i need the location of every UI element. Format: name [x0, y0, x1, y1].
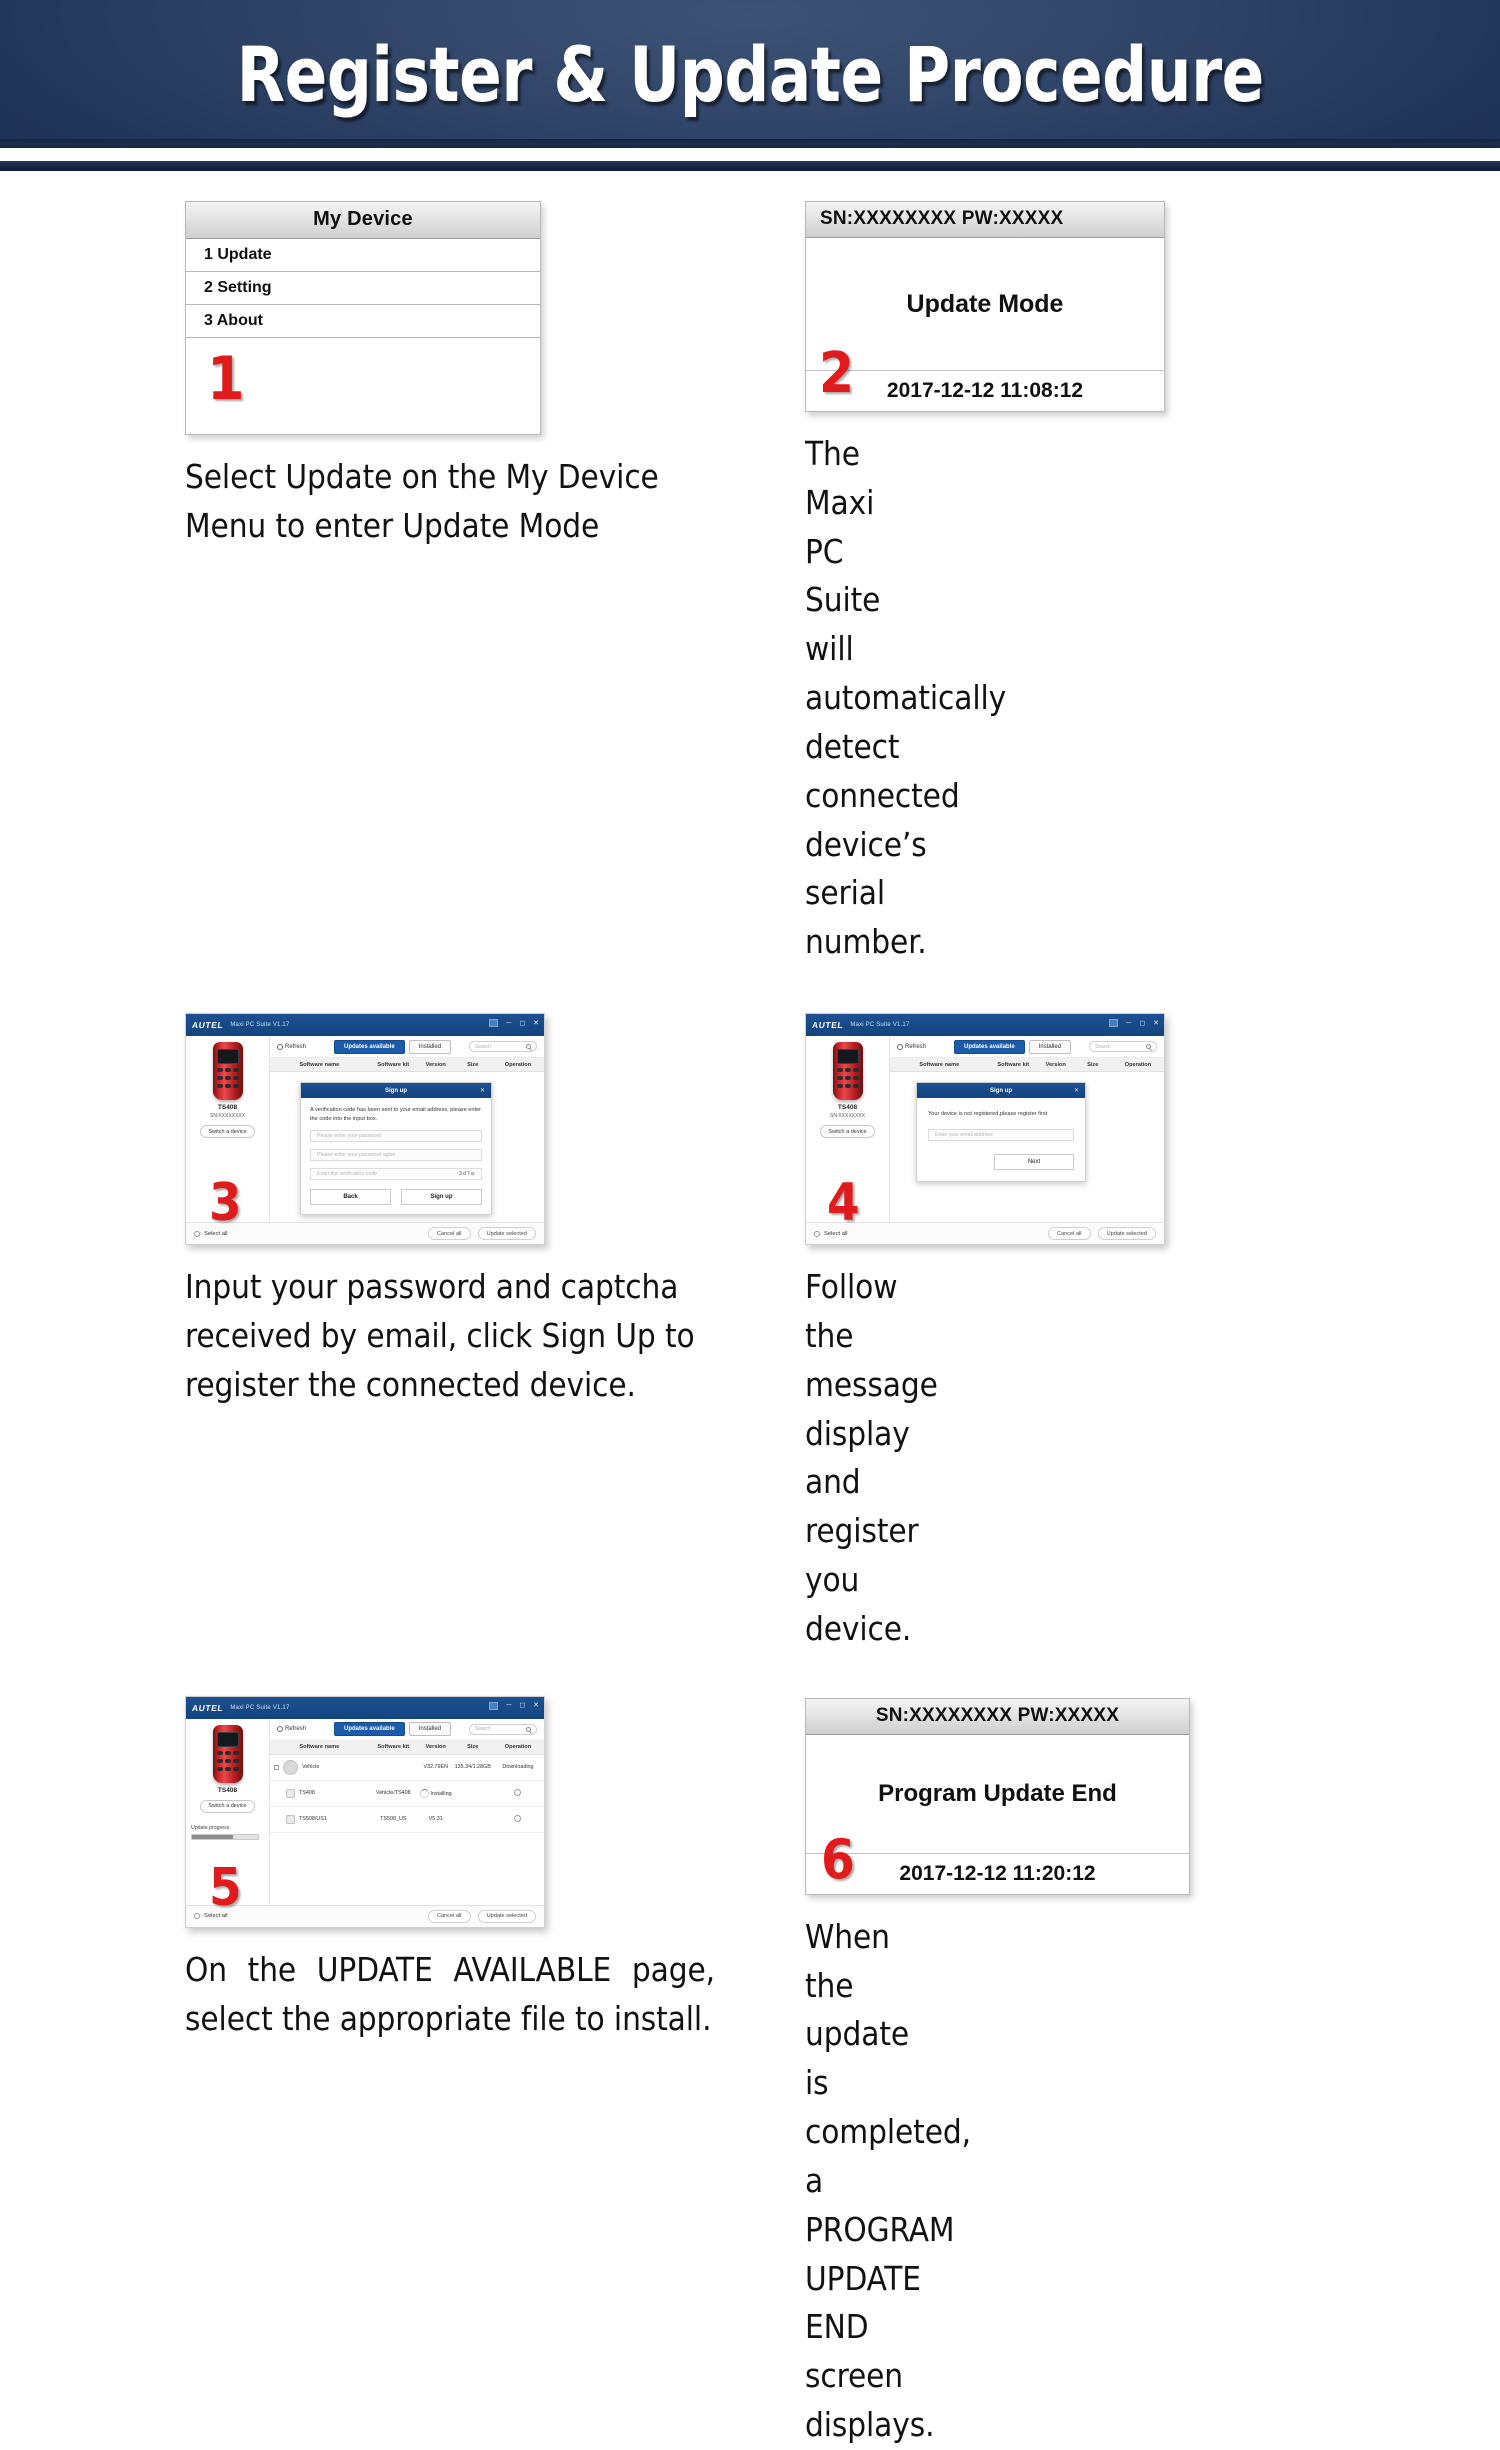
close-icon[interactable]: ✕: [533, 1702, 539, 1709]
tab-installed[interactable]: Installed: [409, 1722, 451, 1736]
search-input[interactable]: Search: [1089, 1041, 1157, 1052]
device-name: TS408: [218, 1104, 237, 1111]
password-confirm-field[interactable]: Please enter your password again: [310, 1149, 482, 1161]
row-software-name: Vehicle: [302, 1764, 319, 1770]
signup-button[interactable]: Sign up: [401, 1189, 482, 1205]
update-selected-button[interactable]: Update selected: [478, 1227, 536, 1240]
refresh-icon: [277, 1044, 283, 1050]
window-buttons[interactable]: ─ ◻ ✕: [489, 1019, 539, 1027]
dialog-body: Your device is not registered,please reg…: [917, 1098, 1085, 1180]
tab-updates-available[interactable]: Updates available: [954, 1040, 1025, 1054]
dialog-buttons: Next: [928, 1154, 1074, 1170]
settings-icon[interactable]: [1109, 1019, 1118, 1027]
dialog-message: A verification code has been sent to you…: [310, 1106, 482, 1123]
device-screen-icon: [217, 1732, 239, 1747]
window-content: Refresh Updates available Installed Sear…: [890, 1036, 1164, 1222]
column-software-name: Software name: [270, 1062, 369, 1068]
column-software-kit: Software kit: [989, 1062, 1038, 1068]
search-icon: [1146, 1044, 1151, 1049]
footer-actions: Cancel all Update selected: [428, 1227, 536, 1240]
device-image: [213, 1042, 243, 1100]
table-row[interactable]: TS508/US1 TS508_US V5.31: [270, 1807, 544, 1833]
window-content: Refresh Updates available Installed Sear…: [270, 1719, 544, 1905]
app-title: Maxi PC Suite V1.17: [230, 1705, 289, 1711]
table-header: Software name Software kit Version Size …: [890, 1058, 1164, 1072]
captcha-field[interactable]: Enter the verification code 3d7a: [310, 1168, 482, 1180]
window-content: Refresh Updates available Installed Sear…: [270, 1036, 544, 1222]
column-software-name: Software name: [890, 1062, 989, 1068]
update-mode-screen: SN:XXXXXXXX PW:XXXXX Update Mode 2017-12…: [805, 201, 1165, 412]
vehicle-icon: [283, 1760, 298, 1775]
column-version: Version: [418, 1062, 454, 1068]
dialog-title-bar: Sign up ✕: [301, 1083, 491, 1098]
email-field[interactable]: Enter your email address: [928, 1129, 1074, 1141]
window-title-bar: AUTEL Maxi PC Suite V1.17 ─ ◻ ✕: [806, 1014, 1164, 1036]
restore-icon[interactable]: ◻: [519, 1702, 525, 1709]
menu-item-setting[interactable]: 2 Setting: [186, 272, 540, 305]
software-icon: [286, 1789, 295, 1798]
row-version: V32.79EN: [418, 1764, 454, 1770]
table-header: Software name Software kit Version Size …: [270, 1741, 544, 1755]
gear-icon[interactable]: [514, 1789, 521, 1796]
device-name: TS408: [218, 1787, 237, 1794]
dialog-buttons: Back Sign up: [310, 1189, 482, 1205]
back-button[interactable]: Back: [310, 1189, 391, 1205]
device-message: Update Mode: [907, 290, 1064, 319]
search-placeholder: Search: [475, 1044, 491, 1050]
search-input[interactable]: Search: [469, 1041, 537, 1052]
password-field[interactable]: Please enter your password: [310, 1130, 482, 1142]
software-icon: [286, 1815, 295, 1824]
page-header: Register & Update Procedure: [0, 0, 1500, 148]
column-size: Size: [454, 1744, 492, 1750]
cancel-all-button[interactable]: Cancel all: [428, 1227, 471, 1240]
device-status-bar: SN:XXXXXXXX PW:XXXXX: [806, 202, 1164, 238]
device-screen-icon: [217, 1049, 239, 1064]
device-message-area: Update Mode: [806, 238, 1164, 370]
header-divider-rule: [0, 161, 1500, 171]
minimize-icon[interactable]: ─: [1126, 1020, 1131, 1027]
search-placeholder: Search: [1095, 1044, 1111, 1050]
column-operation: Operation: [492, 1062, 544, 1068]
close-icon[interactable]: ✕: [1153, 1020, 1159, 1027]
next-button[interactable]: Next: [994, 1154, 1074, 1170]
search-placeholder: Search: [475, 1726, 491, 1732]
step-number-1: 1: [207, 349, 245, 409]
search-icon: [526, 1044, 531, 1049]
minimize-icon[interactable]: ─: [506, 1702, 511, 1709]
select-all-checkbox[interactable]: [194, 1913, 200, 1919]
steps-row-1: My Device 1 Update 2 Setting 3 About 1 S…: [0, 201, 1500, 967]
cancel-all-button[interactable]: Cancel all: [1048, 1227, 1091, 1240]
program-update-end-screen: SN:XXXXXXXX PW:XXXXX Program Update End …: [805, 1698, 1190, 1895]
device-message: Program Update End: [878, 1780, 1117, 1808]
content-toolbar: Refresh Updates available Installed Sear…: [890, 1036, 1164, 1058]
settings-icon[interactable]: [489, 1019, 498, 1027]
content-toolbar: Refresh Updates available Installed Sear…: [270, 1719, 544, 1741]
menu-item-about[interactable]: 3 About: [186, 305, 540, 338]
table-header: Software name Software kit Version Size …: [270, 1058, 544, 1072]
steps-grid: My Device 1 Update 2 Setting 3 About 1 S…: [0, 171, 1500, 2450]
app-title: Maxi PC Suite V1.17: [230, 1022, 289, 1028]
step-number-6: 6: [821, 1833, 855, 1887]
device-timestamp: 2017-12-12 11:20:12: [806, 1853, 1189, 1894]
minimize-icon[interactable]: ─: [506, 1020, 511, 1027]
tab-bar: Updates available Installed: [334, 1722, 451, 1736]
window-buttons[interactable]: ─ ◻ ✕: [1109, 1019, 1159, 1027]
step-5-figure: AUTEL Maxi PC Suite V1.17 ─ ◻ ✕: [185, 1696, 715, 1928]
search-icon: [526, 1727, 531, 1732]
refresh-button[interactable]: Refresh: [277, 1044, 306, 1050]
column-size: Size: [1074, 1062, 1112, 1068]
step-number-2: 2: [819, 346, 854, 402]
cancel-all-button[interactable]: Cancel all: [428, 1910, 471, 1923]
update-progress-label: Update progress: [191, 1825, 229, 1831]
tab-bar: Updates available Installed: [334, 1040, 451, 1054]
settings-icon[interactable]: [489, 1702, 498, 1710]
gear-icon[interactable]: [514, 1815, 521, 1822]
refresh-button[interactable]: Refresh: [897, 1044, 926, 1050]
captcha-placeholder: Enter the verification code: [317, 1171, 377, 1177]
window-title-bar: AUTEL Maxi PC Suite V1.17 ─ ◻ ✕: [186, 1014, 544, 1036]
switch-device-button[interactable]: Switch a device: [820, 1125, 874, 1138]
refresh-label: Refresh: [285, 1044, 306, 1050]
signup-dialog: Sign up ✕ A verification code has been s…: [300, 1082, 492, 1215]
steps-row-2: AUTEL Maxi PC Suite V1.17 ─ ◻ ✕: [0, 1013, 1500, 1654]
tab-updates-available[interactable]: Updates available: [334, 1040, 405, 1054]
table-row[interactable]: Vehicle V32.79EN 135.34/1.28GB Downloadi…: [270, 1755, 544, 1781]
refresh-icon: [897, 1044, 903, 1050]
row-operation[interactable]: [492, 1789, 544, 1798]
update-progress-bar: [191, 1834, 259, 1840]
column-software-name: Software name: [270, 1744, 369, 1750]
dialog-title-bar: Sign up ✕: [917, 1083, 1085, 1098]
row-version: Installing: [418, 1789, 454, 1798]
tab-updates-available[interactable]: Updates available: [334, 1722, 405, 1736]
email-placeholder: Enter your email address: [935, 1132, 993, 1138]
dialog-title: Sign up: [990, 1088, 1012, 1094]
refresh-label: Refresh: [905, 1044, 926, 1050]
window-buttons[interactable]: ─ ◻ ✕: [489, 1702, 539, 1710]
column-software-kit: Software kit: [369, 1062, 418, 1068]
captcha-image[interactable]: 3d7a: [445, 1171, 475, 1177]
row-software-name: TS508/US1: [299, 1816, 327, 1822]
device-keypad-icon: [217, 1068, 239, 1096]
device-serial: SN:XXXXXXXX: [830, 1113, 865, 1119]
select-all-checkbox[interactable]: [194, 1231, 200, 1237]
row-software-name: TS408: [299, 1790, 315, 1796]
device-image: [213, 1725, 243, 1783]
device-timestamp: 2017-12-12 11:08:12: [806, 370, 1164, 411]
register-dialog: Sign up ✕ Your device is not registered,…: [916, 1082, 1086, 1181]
close-icon[interactable]: ✕: [533, 1020, 539, 1027]
device-image: [833, 1042, 863, 1100]
footer-actions: Cancel all Update selected: [428, 1910, 536, 1923]
header-gap: [0, 148, 1500, 161]
tab-bar: Updates available Installed: [954, 1040, 1071, 1054]
step-number-4: 4: [827, 1177, 860, 1229]
menu-item-update[interactable]: 1 Update: [186, 239, 540, 272]
search-input[interactable]: Search: [469, 1724, 537, 1735]
device-keypad-icon: [217, 1751, 239, 1779]
column-operation: Operation: [1112, 1062, 1164, 1068]
dialog-message: Your device is not registered,please reg…: [928, 1110, 1074, 1118]
window-title-bar: AUTEL Maxi PC Suite V1.17 ─ ◻ ✕: [186, 1697, 544, 1719]
refresh-icon: [277, 1726, 283, 1732]
step-1-figure: My Device 1 Update 2 Setting 3 About 1: [185, 201, 715, 435]
column-size: Size: [454, 1062, 492, 1068]
switch-device-button[interactable]: Switch a device: [200, 1800, 254, 1813]
device-screen-icon: [837, 1049, 859, 1064]
password-placeholder: Please enter your password: [317, 1133, 381, 1139]
update-selected-button[interactable]: Update selected: [478, 1910, 536, 1923]
row-operation[interactable]: Downloading: [492, 1764, 544, 1770]
steps-row-3: AUTEL Maxi PC Suite V1.17 ─ ◻ ✕: [0, 1696, 1500, 2450]
tab-installed[interactable]: Installed: [1029, 1040, 1071, 1054]
select-all-label: Select all: [204, 1913, 228, 1919]
table-row[interactable]: TS408 Vehicle/TS408 Installing: [270, 1781, 544, 1807]
device-keypad-icon: [837, 1068, 859, 1096]
refresh-label: Refresh: [285, 1726, 306, 1732]
footer-actions: Cancel all Update selected: [1048, 1227, 1156, 1240]
dialog-title: Sign up: [385, 1088, 407, 1094]
column-version: Version: [1038, 1062, 1074, 1068]
spinner-icon: [420, 1789, 429, 1798]
dialog-close-icon[interactable]: ✕: [1074, 1087, 1079, 1094]
step-number-5: 5: [209, 1862, 242, 1914]
tab-installed[interactable]: Installed: [409, 1040, 451, 1054]
step-number-3: 3: [209, 1177, 242, 1229]
content-toolbar: Refresh Updates available Installed Sear…: [270, 1036, 544, 1058]
step-3-figure: AUTEL Maxi PC Suite V1.17 ─ ◻ ✕: [185, 1013, 715, 1245]
row-operation[interactable]: [492, 1815, 544, 1824]
restore-icon[interactable]: ◻: [1139, 1020, 1145, 1027]
row-checkbox[interactable]: [274, 1765, 279, 1770]
row-version: V5.31: [418, 1816, 454, 1822]
device-message-area: Program Update End: [806, 1735, 1189, 1853]
autel-logo: AUTEL: [191, 1703, 224, 1713]
select-all-checkbox[interactable]: [814, 1231, 820, 1237]
app-title: Maxi PC Suite V1.17: [850, 1022, 909, 1028]
row-software-kit: Vehicle/TS408: [369, 1790, 418, 1796]
device-status-bar: SN:XXXXXXXX PW:XXXXX: [806, 1699, 1189, 1735]
column-operation: Operation: [492, 1744, 544, 1750]
my-device-title: My Device: [186, 202, 540, 239]
row-size: 135.34/1.28GB: [454, 1764, 492, 1770]
column-software-kit: Software kit: [369, 1744, 418, 1750]
dialog-body: A verification code has been sent to you…: [301, 1098, 491, 1214]
restore-icon[interactable]: ◻: [519, 1020, 525, 1027]
row-version-label: Installing: [430, 1791, 451, 1797]
refresh-button[interactable]: Refresh: [277, 1726, 306, 1732]
dialog-close-icon[interactable]: ✕: [480, 1087, 485, 1094]
device-name: TS408: [838, 1104, 857, 1111]
device-serial: SN:XXXXXXXX: [210, 1113, 245, 1119]
autel-logo: AUTEL: [811, 1020, 844, 1030]
password-confirm-placeholder: Please enter your password again: [317, 1152, 395, 1158]
row-software-kit: TS508_US: [369, 1816, 418, 1822]
switch-device-button[interactable]: Switch a device: [200, 1125, 254, 1138]
column-version: Version: [418, 1744, 454, 1750]
autel-logo: AUTEL: [191, 1020, 224, 1030]
page-title: Register & Update Procedure: [236, 30, 1263, 119]
update-selected-button[interactable]: Update selected: [1098, 1227, 1156, 1240]
